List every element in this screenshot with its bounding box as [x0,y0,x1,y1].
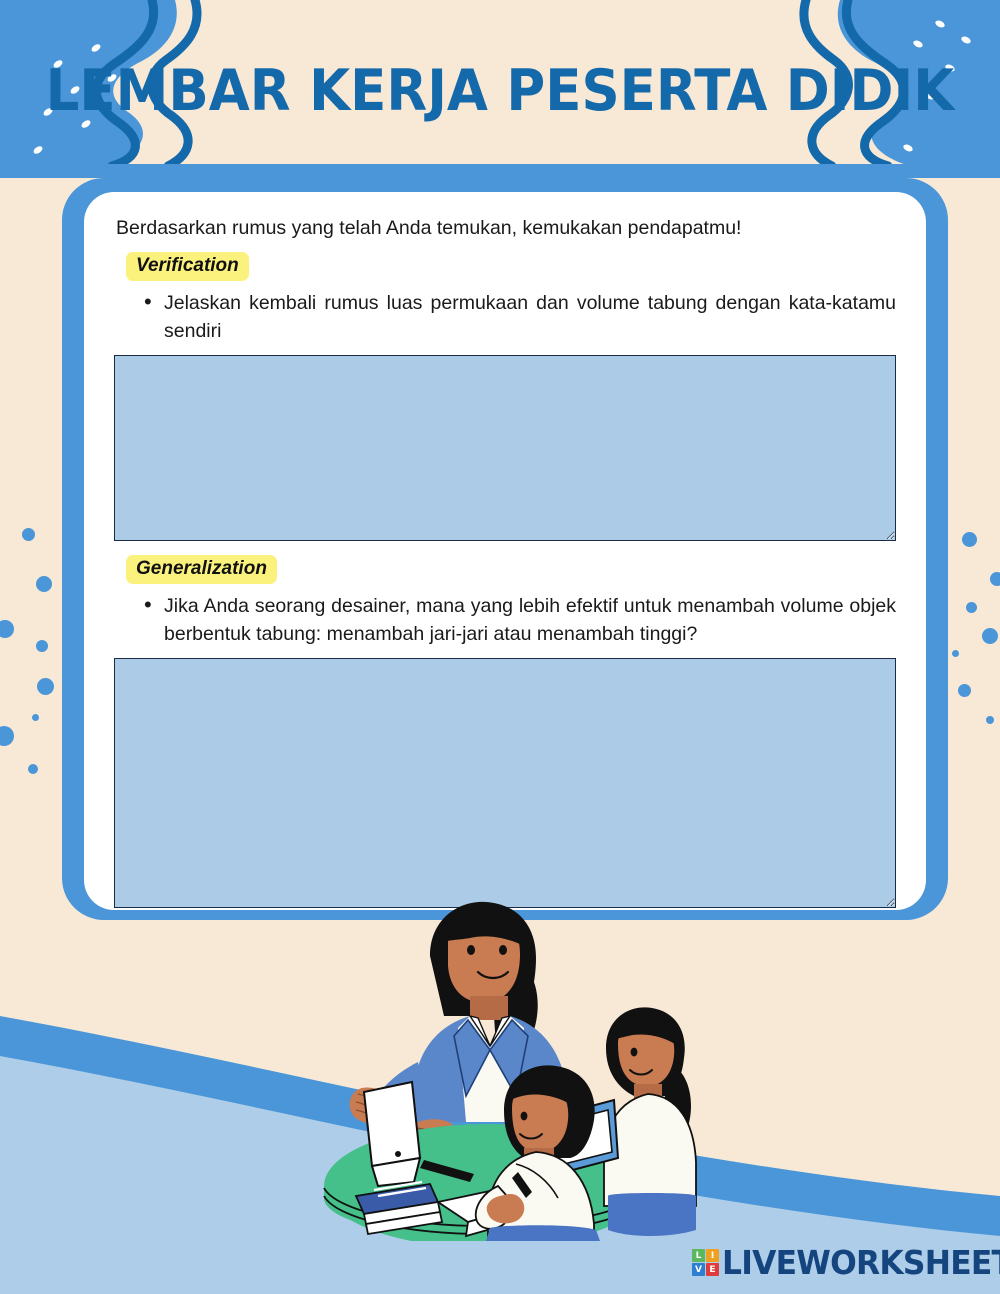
question-item: Jika Anda seorang desainer, mana yang le… [114,592,896,648]
answer-input-generalization[interactable] [114,658,896,908]
decor-dot [37,678,54,695]
decor-dot [966,602,977,613]
page-title: LEMBAR KERJA PESERTA DIDIK [35,60,965,122]
decor-dot [22,528,35,541]
logo-tile-v: V [692,1263,705,1276]
worksheet-page: LEMBAR KERJA PESERTA DIDIK Berdasarkan r… [0,0,1000,1294]
logo-wordmark: LIVEWORKSHEETS [722,1246,1000,1279]
decor-dot [0,620,14,638]
logo-tiles: L I V E [692,1249,719,1276]
content-card: Berdasarkan rumus yang telah Anda temuka… [84,192,926,910]
header-accent-band [0,164,1000,178]
intro-text: Berdasarkan rumus yang telah Anda temuka… [116,214,896,242]
decor-dot [962,532,977,547]
decor-dot [986,716,994,724]
liveworksheets-logo[interactable]: L I V E LIVEWORKSHEETS [692,1246,1000,1279]
section-tag-generalization: Generalization [126,555,277,584]
logo-tile-e: E [706,1263,719,1276]
section-verification: Verification Jelaskan kembali rumus luas… [114,252,896,541]
decor-dot [28,764,38,774]
decor-dot [990,572,1000,586]
decor-dot [958,684,971,697]
answer-input-verification[interactable] [114,355,896,541]
decor-dot [32,714,39,721]
page-header: LEMBAR KERJA PESERTA DIDIK [0,0,1000,178]
decor-dot [36,576,52,592]
question-list-verification: Jelaskan kembali rumus luas permukaan da… [114,289,896,345]
section-generalization: Generalization Jika Anda seorang desaine… [114,555,896,908]
decor-dot [982,628,998,644]
question-item: Jelaskan kembali rumus luas permukaan da… [114,289,896,345]
logo-tile-l: L [692,1249,705,1262]
section-tag-verification: Verification [126,252,249,281]
logo-tile-i: I [706,1249,719,1262]
teacher-and-students-illustration [318,896,698,1241]
question-list-generalization: Jika Anda seorang desainer, mana yang le… [114,592,896,648]
decor-dot [0,726,14,746]
decor-dot [36,640,48,652]
decor-dot [952,650,959,657]
